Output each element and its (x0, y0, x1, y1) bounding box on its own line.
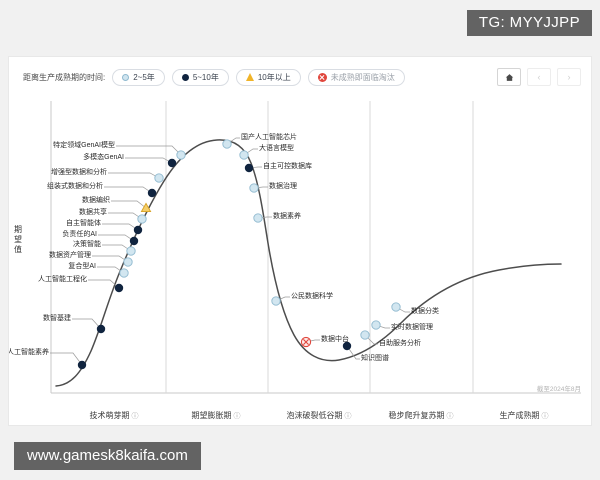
legend-chip-label: 10年以上 (258, 72, 291, 83)
point-label[interactable]: 知识图谱 (361, 355, 389, 363)
hype-cycle-screenshot: TG: MYYJJPP www.gamesk8kaifa.com 距离生产成熟期… (0, 0, 600, 480)
x-circle-icon (318, 73, 327, 82)
point-label[interactable]: 多模态GenAI (83, 154, 124, 162)
point-label[interactable]: 数据治理 (269, 183, 297, 191)
phase-label-0[interactable]: 技术萌芽期ⓘ (90, 410, 139, 421)
point-label[interactable]: 负责任的AI (62, 231, 97, 239)
point-label[interactable]: 数据素养 (273, 213, 301, 221)
info-icon[interactable]: ⓘ (542, 413, 549, 420)
point-label[interactable]: 实时数据管理 (391, 324, 433, 332)
point-label[interactable]: 人工智能工程化 (38, 276, 87, 284)
point-label[interactable]: 特定领域GenAI模型 (53, 142, 115, 150)
legend-chip-10y-plus[interactable]: 10年以上 (236, 69, 301, 86)
phase-label-text: 期望膨胀期 (192, 411, 232, 420)
chevron-left-icon: ‹ (538, 72, 541, 82)
hype-cycle-plot: 期望值 时间 截至2024年8月 技术萌芽期ⓘ期望膨胀期ⓘ泡沫破裂低谷期ⓘ稳步爬… (9, 97, 592, 426)
info-icon[interactable]: ⓘ (234, 413, 241, 420)
legend-title: 距离生产成熟期的时间: (23, 72, 105, 83)
point-label[interactable]: 数据编织 (82, 197, 110, 205)
point-label[interactable]: 自助服务分析 (379, 340, 421, 348)
legend-chip-label: 2~5年 (133, 72, 155, 83)
info-icon[interactable]: ⓘ (345, 413, 352, 420)
home-button[interactable] (497, 68, 521, 86)
legend-chip-label: 5~10年 (193, 72, 219, 83)
legend-chip-label: 未成熟即面临淘汰 (331, 72, 395, 83)
legend-chip-obsolete[interactable]: 未成熟即面临淘汰 (308, 69, 405, 86)
dark-circle-icon (182, 74, 189, 81)
phase-label-text: 泡沫破裂低谷期 (287, 411, 343, 420)
prev-button[interactable]: ‹ (527, 68, 551, 86)
phase-label-2[interactable]: 泡沫破裂低谷期ⓘ (287, 410, 352, 421)
legend-chip-2-5y[interactable]: 2~5年 (112, 69, 165, 86)
point-label[interactable]: 数据资产管理 (49, 252, 91, 260)
phase-label-4[interactable]: 生产成熟期ⓘ (500, 410, 549, 421)
point-label[interactable]: 自主智能体 (66, 220, 101, 228)
light-circle-icon (122, 74, 129, 81)
point-label[interactable]: 复合型AI (68, 263, 96, 271)
point-label[interactable]: 数智基建 (43, 315, 71, 323)
point-label[interactable]: 决策智能 (73, 241, 101, 249)
point-label[interactable]: 公民数据科学 (291, 293, 333, 301)
y-axis-title: 期望值 (13, 225, 23, 255)
chevron-right-icon: › (568, 72, 571, 82)
point-label[interactable]: 增强型数据和分析 (51, 169, 107, 177)
point-label[interactable]: 人工智能素养 (8, 349, 49, 357)
tg-badge: TG: MYYJJPP (467, 10, 592, 36)
watermark: www.gamesk8kaifa.com (14, 442, 201, 470)
phase-label-text: 生产成熟期 (500, 411, 540, 420)
phase-label-text: 稳步爬升复苏期 (389, 411, 445, 420)
point-label[interactable]: 数据分类 (411, 308, 439, 316)
legend-chip-5-10y[interactable]: 5~10年 (172, 69, 229, 86)
point-label[interactable]: 大语言模型 (259, 145, 294, 153)
as-of-annotation: 截至2024年8月 (537, 383, 581, 393)
phase-label-1[interactable]: 期望膨胀期ⓘ (192, 410, 241, 421)
phase-label-3[interactable]: 稳步爬升复苏期ⓘ (389, 410, 454, 421)
next-button[interactable]: › (557, 68, 581, 86)
nav-buttons: ‹ › (497, 68, 581, 86)
point-label[interactable]: 数据中台 (321, 336, 349, 344)
point-label[interactable]: 国产人工智能芯片 (241, 134, 297, 142)
home-icon (505, 73, 514, 82)
info-icon[interactable]: ⓘ (447, 413, 454, 420)
phase-label-text: 技术萌芽期 (90, 411, 130, 420)
point-label[interactable]: 数据共享 (79, 209, 107, 217)
point-label[interactable]: 组装式数据和分析 (47, 183, 103, 191)
triangle-icon (246, 73, 254, 81)
point-label[interactable]: 自主可控数据库 (263, 163, 312, 171)
info-icon[interactable]: ⓘ (132, 413, 139, 420)
chart-card: 距离生产成熟期的时间: 2~5年 5~10年 10年以上 未成熟即面临淘汰 (8, 56, 592, 426)
